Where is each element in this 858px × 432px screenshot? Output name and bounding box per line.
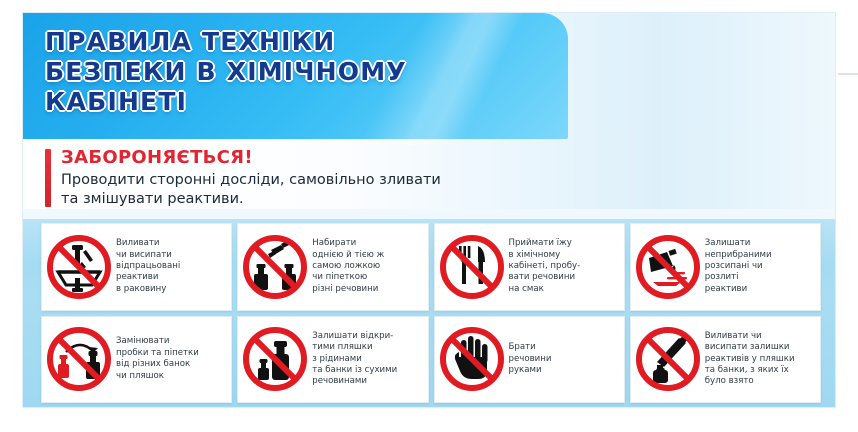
prohibition-card-text: Залишати неприбраними розсипані чи розли… [703,238,816,295]
card-text-line: реактиви [705,284,814,295]
card-text-line: Приймати їжу [509,238,618,249]
card-text-line: чи піпеткою [312,272,421,283]
prohibition-card: Приймати їжу в хімічному кабінеті, пробу… [434,223,625,311]
card-text-line: різні речовини [312,284,421,295]
card-text-line: Замінювати [116,336,225,347]
card-text-line: та банки, з яких їх [705,365,814,376]
warning-heading: ЗАБОРОНЯЄТЬСЯ! [61,147,253,168]
card-text-line: в хімічному [509,250,618,261]
card-text-line: та банки із сухими [312,365,421,376]
card-text-line: самою ложкою [312,261,421,272]
two-bottles-pipette-icon [240,232,310,302]
card-text-line: речовинами [312,376,421,387]
card-text-line: однією й тією ж [312,250,421,261]
title-line-2: БЕЗПЕКИ В ХІМІЧНОМУ [45,57,545,87]
page-title: ПРАВИЛА ТЕХНІКИ БЕЗПЕКИ В ХІМІЧНОМУ КАБІ… [45,27,545,117]
card-text-line: речовини [509,354,618,365]
card-text-line: реактивів у пляшки [705,354,814,365]
spilled-flask-icon [633,232,703,302]
prohibition-card-text: Набирати однією й тією ж самою ложкою чи… [310,238,423,295]
title-line-1: ПРАВИЛА ТЕХНІКИ [45,27,545,57]
card-text-line: Залишати [705,238,814,249]
card-text-line: розсипані чи [705,261,814,272]
prohibition-card: Залишати неприбраними розсипані чи розли… [630,223,821,311]
prohibition-card: Залишати відкри- тими пляшки з рідинами … [237,316,428,404]
title-line-3: КАБІНЕТІ [45,87,545,117]
prohibition-card: Виливати чи висипати відпрацьовані реакт… [41,223,232,311]
warning-body-line-1: Проводити сторонні досліди, самовільно з… [61,171,591,190]
card-text-line: від різних банок [116,359,225,370]
open-hand-icon [437,324,507,394]
open-jars-icon [240,324,310,394]
prohibition-card: Брати речовини руками [434,316,625,404]
prohibition-card-text: Виливати чи висипати відпрацьовані реакт… [114,238,227,295]
card-text-line: реактиви [116,272,225,283]
fork-knife-icon [437,232,507,302]
card-text-line: Виливати [116,238,225,249]
prohibition-card-text: Замінювати пробки та піпетки від різних … [114,336,227,382]
warning-body-line-2: та змішувати реактиви. [61,190,591,209]
warning-body: Проводити сторонні досліди, самовільно з… [61,171,591,209]
prohibition-card-grid: Виливати чи висипати відпрацьовані реакт… [41,223,821,403]
prohibition-card-text: Брати речовини руками [507,342,620,376]
card-text-line: чи пляшок [116,371,225,382]
card-text-line: Виливати чи [705,331,814,342]
card-text-line: розлиті [705,272,814,283]
prohibition-card: Набирати однією й тією ж самою ложкою чи… [237,223,428,311]
card-text-line: тими пляшки [312,342,421,353]
card-text-line: вати речовини [509,272,618,283]
card-text-line: чи висипати [116,250,225,261]
card-text-line: в раковину [116,284,225,295]
prohibition-card: Замінювати пробки та піпетки від різних … [41,316,232,404]
card-text-line: відпрацьовані [116,261,225,272]
sink-faucet-pipette-icon [44,232,114,302]
card-text-line: з рідинами [312,354,421,365]
scan-artifact-line [838,73,858,75]
card-text-line: на смак [509,284,618,295]
warning-red-bar [45,149,51,207]
card-text-line: висипати залишки [705,342,814,353]
prohibition-card: Виливати чи висипати залишки реактивів у… [630,316,821,404]
prohibition-card-text: Виливати чи висипати залишки реактивів у… [703,331,816,388]
card-text-line: руками [509,365,618,376]
card-text-line: кабінеті, пробу- [509,261,618,272]
swap-bottle-stoppers-icon [44,324,114,394]
prohibition-card-text: Приймати їжу в хімічному кабінеті, пробу… [507,238,620,295]
card-text-line: було взято [705,376,814,387]
pipette-bottle-pour-icon [633,324,703,394]
safety-poster: ПРАВИЛА ТЕХНІКИ БЕЗПЕКИ В ХІМІЧНОМУ КАБІ… [22,12,836,408]
card-text-line: неприбраними [705,250,814,261]
card-text-line: Залишати відкри- [312,331,421,342]
card-text-line: пробки та піпетки [116,348,225,359]
card-text-line: Набирати [312,238,421,249]
prohibition-card-text: Залишати відкри- тими пляшки з рідинами … [310,331,423,388]
card-text-line: Брати [509,342,618,353]
